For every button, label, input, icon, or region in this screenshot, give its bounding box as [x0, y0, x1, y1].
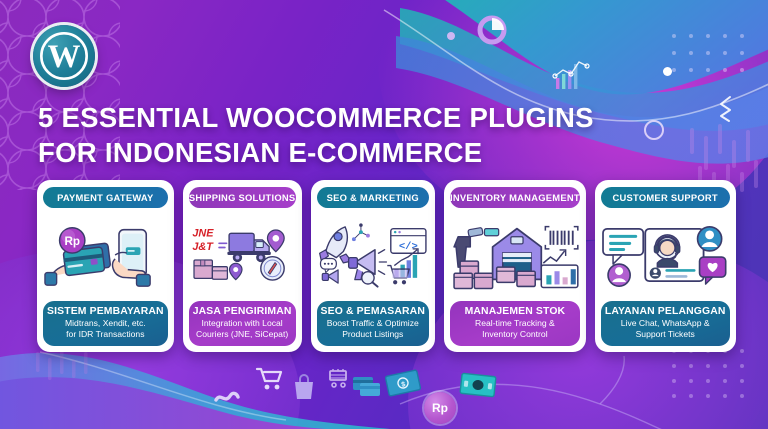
card-title-shipping: JASA PENGIRIMAN [193, 306, 292, 317]
card-sub-payment-line2: for IDR Transactions [47, 329, 164, 340]
card-illustration-shipping: JNE J&T [189, 208, 296, 301]
card-footer-shipping-solutions: JASA PENGIRIMAN Integration with Local C… [189, 301, 296, 346]
card-title-support: LAYANAN PELANGGAN [605, 306, 726, 317]
shopping-cart-icon [325, 366, 351, 390]
card-customer-support[interactable]: CUSTOMER SUPPORT [595, 180, 736, 352]
wordpress-logo: W [33, 25, 95, 87]
shopping-cart-icon [255, 366, 285, 392]
card-illustration-inventory [450, 208, 580, 301]
zigzag-icon [718, 95, 734, 123]
plugin-cards-row: PAYMENT GATEWAY Rp [37, 180, 731, 352]
card-illustration-support [601, 208, 730, 301]
card-sub-seo-line2: Product Listings [321, 329, 425, 340]
card-payment-gateway[interactable]: PAYMENT GATEWAY Rp [37, 180, 174, 352]
card-sub-inventory-line1: Real-time Tracking & [454, 318, 576, 329]
card-header-customer-support: CUSTOMER SUPPORT [601, 187, 730, 208]
shopping-bag-icon [291, 373, 317, 401]
card-sub-shipping-line1: Integration with Local [193, 318, 292, 329]
banknote-icon [459, 372, 497, 398]
title-line-1: 5 Essential WooCommerce Plugins [38, 100, 658, 135]
wordpress-letter: W [48, 39, 81, 75]
credit-card-icon [352, 375, 382, 397]
banknote-icon: $ [384, 369, 422, 398]
line-chart-icon [552, 58, 594, 92]
card-footer-customer-support: LAYANAN PELANGGAN Live Chat, WhatsApp & … [601, 301, 730, 346]
card-illustration-seo: </> [317, 208, 429, 301]
card-footer-inventory-management: MANAJEMEN STOK Real-time Tracking & Inve… [450, 301, 580, 346]
card-shipping-solutions[interactable]: SHIPPING SOLUTIONS JNE J&T [183, 180, 302, 352]
dot-marker-icon [447, 32, 455, 40]
squiggle-icon [213, 390, 241, 406]
card-title-seo: SEO & PEMASARAN [321, 306, 425, 317]
jne-logo: JNE [192, 228, 214, 240]
card-sub-shipping-line2: Couriers (JNE, SiCepat) [193, 329, 292, 340]
rupiah-symbol: Rp [64, 235, 80, 248]
card-title-payment: SISTEM PEMBAYARAN [47, 306, 164, 317]
card-sub-inventory-line2: Inventory Control [454, 329, 576, 340]
card-footer-payment-gateway: SISTEM PEMBAYARAN Midtrans, Xendit, etc.… [43, 301, 168, 346]
seo-illustration-icon: </> [317, 210, 429, 300]
card-illustration-payment: Rp [43, 208, 168, 301]
jnt-logo: J&T [192, 241, 214, 253]
card-sub-payment-line1: Midtrans, Xendit, etc. [47, 318, 164, 329]
wordpress-w-icon: W [39, 31, 89, 81]
pie-chart-icon [476, 14, 508, 46]
title-line-2: for Indonesian E-Commerce [38, 135, 658, 170]
card-seo-marketing[interactable]: SEO & MARKETING [311, 180, 435, 352]
payment-illustration-icon: Rp [43, 210, 168, 300]
rupiah-symbol: Rp [432, 401, 448, 415]
card-sub-support-line1: Live Chat, WhatsApp & [605, 318, 726, 329]
card-header-shipping-solutions: SHIPPING SOLUTIONS [189, 187, 296, 208]
inventory-illustration-icon [450, 210, 580, 300]
card-header-seo-marketing: SEO & MARKETING [317, 187, 429, 208]
card-header-inventory-management: INVENTORY MANAGEMENT [450, 187, 580, 208]
shipping-illustration-icon: JNE J&T [189, 210, 296, 300]
card-header-payment-gateway: PAYMENT GATEWAY [43, 187, 168, 208]
card-footer-seo-marketing: SEO & PEMASARAN Boost Traffic & Optimize… [317, 301, 429, 346]
card-sub-seo-line1: Boost Traffic & Optimize [321, 318, 425, 329]
page-title: 5 Essential WooCommerce Plugins for Indo… [38, 100, 658, 170]
dot-grid-top-right [672, 34, 750, 90]
dot-marker-icon [663, 67, 672, 76]
card-inventory-management[interactable]: INVENTORY MANAGEMENT [444, 180, 586, 352]
dollar-symbol: $ [401, 381, 406, 389]
infographic-canvas: $ Rp W 5 Essential WooCommerce Plugins f… [0, 0, 768, 429]
rupiah-coin-icon: Rp [424, 392, 456, 424]
card-sub-support-line2: Support Tickets [605, 329, 726, 340]
support-illustration-icon [601, 210, 730, 300]
dot-grid-bottom-right [672, 349, 750, 409]
card-title-inventory: MANAJEMEN STOK [454, 306, 576, 317]
